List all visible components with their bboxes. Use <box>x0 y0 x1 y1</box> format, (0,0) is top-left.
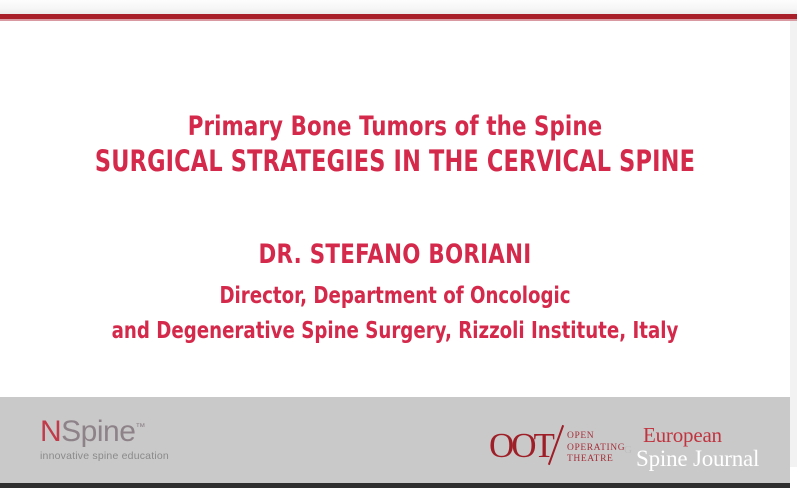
esj-ghost-glyph-icon: G <box>624 444 632 456</box>
nspine-wordmark: NSpine™ <box>40 417 190 447</box>
oot-line-2: OPERATING <box>567 443 625 455</box>
oot-line-3: THEATRE <box>567 454 625 466</box>
oot-expansion: OPEN OPERATING THEATRE <box>567 431 625 466</box>
slide-speaker-block: DR. STEFANO BORIANI Director, Department… <box>0 239 790 344</box>
nspine-word: Spine <box>61 415 135 448</box>
european-spine-journal-logo: G European Spine Journal <box>636 425 759 470</box>
presentation-slide: Primary Bone Tumors of the Spine SURGICA… <box>0 21 790 467</box>
speaker-role-line-2: and Degenerative Spine Surgery, Rizzoli … <box>47 318 742 344</box>
slide-title-primary: Primary Bone Tumors of the Spine <box>47 111 742 142</box>
nspine-logo: NSpine™ innovative spine education <box>40 417 190 462</box>
slide-right-margin <box>790 21 797 467</box>
oot-line-1: OPEN <box>567 431 625 443</box>
screen: iges Ausschneiden Primary Bone Tumors of… <box>0 0 797 475</box>
nspine-trademark-icon: ™ <box>135 422 145 433</box>
slide-title-block: Primary Bone Tumors of the Spine SURGICA… <box>0 111 790 178</box>
esj-line-2: Spine Journal <box>636 447 759 470</box>
nspine-tagline: innovative spine education <box>40 450 190 462</box>
slide-bottom-border <box>0 483 790 488</box>
window-chrome-strip <box>0 0 797 14</box>
esj-line-1: European <box>643 425 759 446</box>
nspine-initial: N <box>40 415 61 448</box>
slide-title-secondary: SURGICAL STRATEGIES IN THE CERVICAL SPIN… <box>55 144 734 178</box>
oot-wordmark: OOT <box>489 428 552 463</box>
speaker-role-line-1: Director, Department of Oncologic <box>47 283 742 309</box>
speaker-name: DR. STEFANO BORIANI <box>47 239 742 270</box>
